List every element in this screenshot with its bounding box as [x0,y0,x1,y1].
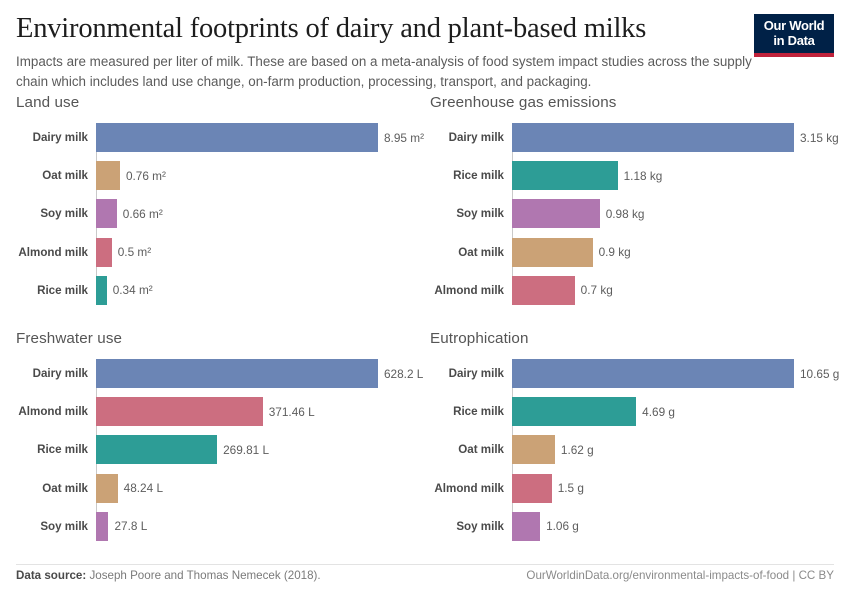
category-label: Oat milk [430,246,512,259]
category-label: Oat milk [430,443,512,456]
bar-container: 10.65 g [512,359,839,388]
bar[interactable] [512,238,593,267]
bar-row: Oat milk48.24 L [16,474,424,503]
plot-area: Dairy milk8.95 m²Oat milk0.76 m²Soy milk… [16,123,424,305]
bar-rows: Dairy milk8.95 m²Oat milk0.76 m²Soy milk… [16,123,424,305]
plot-area: Dairy milk10.65 gRice milk4.69 gOat milk… [430,359,838,541]
value-label: 3.15 kg [794,131,839,145]
value-label: 628.2 L [378,367,423,381]
logo-line-1: Our World [754,18,834,33]
bar-container: 0.76 m² [96,161,424,190]
bar-container: 27.8 L [96,512,424,541]
bar-row: Soy milk27.8 L [16,512,424,541]
page-title: Environmental footprints of dairy and pl… [16,12,834,46]
bar-container: 628.2 L [96,359,424,388]
value-label: 0.66 m² [117,207,163,221]
value-label: 0.98 kg [600,207,645,221]
value-label: 0.7 kg [575,283,613,297]
bar[interactable] [512,123,794,152]
category-label: Soy milk [430,207,512,220]
bar-container: 0.9 kg [512,238,838,267]
bar-row: Dairy milk8.95 m² [16,123,424,152]
category-label: Soy milk [430,520,512,533]
bar[interactable] [96,238,112,267]
category-label: Soy milk [16,520,96,533]
bar-rows: Dairy milk3.15 kgRice milk1.18 kgSoy mil… [430,123,838,305]
bar-container: 1.5 g [512,474,838,503]
value-label: 0.5 m² [112,245,151,259]
bar-row: Almond milk0.5 m² [16,238,424,267]
bar-row: Dairy milk628.2 L [16,359,424,388]
value-label: 1.62 g [555,443,594,457]
value-label: 0.9 kg [593,245,631,259]
bar-container: 1.18 kg [512,161,838,190]
value-label: 48.24 L [118,481,163,495]
bar[interactable] [96,161,120,190]
value-label: 1.5 g [552,481,584,495]
bar-container: 371.46 L [96,397,424,426]
bar-container: 48.24 L [96,474,424,503]
category-label: Dairy milk [430,131,512,144]
bar-row: Oat milk1.62 g [430,435,838,464]
category-label: Oat milk [16,482,96,495]
bar[interactable] [512,199,600,228]
bar-row: Almond milk1.5 g [430,474,838,503]
bar[interactable] [512,474,552,503]
value-label: 4.69 g [636,405,675,419]
bar[interactable] [96,474,118,503]
bar-container: 1.06 g [512,512,838,541]
bar-row: Rice milk1.18 kg [430,161,838,190]
value-label: 27.8 L [108,519,147,533]
panel-title: Freshwater use [16,330,424,347]
attribution-link[interactable]: OurWorldinData.org/environmental-impacts… [526,569,834,582]
category-label: Oat milk [16,169,96,182]
bar-container: 8.95 m² [96,123,424,152]
panel-freshwater-use: Freshwater use Dairy milk628.2 LAlmond m… [16,330,424,541]
data-source-label: Data source: [16,569,86,582]
bar-container: 0.34 m² [96,276,424,305]
category-label: Dairy milk [430,367,512,380]
logo-line-2: in Data [754,33,834,48]
bar[interactable] [96,359,378,388]
bar[interactable] [96,276,107,305]
bar[interactable] [512,276,575,305]
panel-title: Eutrophication [430,330,838,347]
bar-container: 3.15 kg [512,123,839,152]
category-label: Soy milk [16,207,96,220]
category-label: Almond milk [430,284,512,297]
panel-eutrophication: Eutrophication Dairy milk10.65 gRice mil… [430,330,838,541]
value-label: 371.46 L [263,405,315,419]
category-label: Rice milk [16,443,96,456]
bar[interactable] [512,359,794,388]
bar-container: 0.98 kg [512,199,838,228]
bar-row: Rice milk4.69 g [430,397,838,426]
bar-container: 1.62 g [512,435,838,464]
bar[interactable] [96,512,108,541]
category-label: Rice milk [16,284,96,297]
bar-row: Dairy milk10.65 g [430,359,838,388]
bar[interactable] [96,199,117,228]
category-label: Almond milk [16,246,96,259]
category-label: Almond milk [430,482,512,495]
bar[interactable] [96,397,263,426]
bar[interactable] [96,123,378,152]
bar-row: Dairy milk3.15 kg [430,123,838,152]
bar[interactable] [96,435,217,464]
plot-area: Dairy milk628.2 LAlmond milk371.46 LRice… [16,359,424,541]
category-label: Dairy milk [16,367,96,380]
chart-panel-grid: Land use Dairy milk8.95 m²Oat milk0.76 m… [0,94,850,554]
bar[interactable] [512,161,618,190]
category-label: Dairy milk [16,131,96,144]
panel-title: Land use [16,94,424,111]
data-source: Data source: Joseph Poore and Thomas Nem… [16,569,321,582]
bar-row: Almond milk0.7 kg [430,276,838,305]
bar-row: Rice milk0.34 m² [16,276,424,305]
category-label: Rice milk [430,405,512,418]
value-label: 0.76 m² [120,169,166,183]
bar-container: 0.66 m² [96,199,424,228]
panel-greenhouse-gas-emissions: Greenhouse gas emissions Dairy milk3.15 … [430,94,838,305]
bar-row: Oat milk0.9 kg [430,238,838,267]
category-label: Almond milk [16,405,96,418]
bar-container: 4.69 g [512,397,838,426]
value-label: 1.06 g [540,519,579,533]
bar-row: Soy milk1.06 g [430,512,838,541]
value-label: 10.65 g [794,367,839,381]
bar-row: Almond milk371.46 L [16,397,424,426]
owid-chart-page: Environmental footprints of dairy and pl… [0,0,850,600]
data-source-text: Joseph Poore and Thomas Nemecek (2018). [89,569,320,582]
bar-rows: Dairy milk628.2 LAlmond milk371.46 LRice… [16,359,424,541]
bar[interactable] [512,435,555,464]
bar-row: Oat milk0.76 m² [16,161,424,190]
value-label: 0.34 m² [107,283,153,297]
chart-footer: Data source: Joseph Poore and Thomas Nem… [16,564,834,582]
value-label: 8.95 m² [378,131,424,145]
bar-row: Soy milk0.98 kg [430,199,838,228]
bar[interactable] [512,397,636,426]
bar-container: 269.81 L [96,435,424,464]
our-world-in-data-logo[interactable]: Our World in Data [754,14,834,57]
plot-area: Dairy milk3.15 kgRice milk1.18 kgSoy mil… [430,123,838,305]
bar-container: 0.7 kg [512,276,838,305]
bar-row: Soy milk0.66 m² [16,199,424,228]
bar-rows: Dairy milk10.65 gRice milk4.69 gOat milk… [430,359,838,541]
category-label: Rice milk [430,169,512,182]
bar-container: 0.5 m² [96,238,424,267]
value-label: 269.81 L [217,443,269,457]
bar-row: Rice milk269.81 L [16,435,424,464]
bar[interactable] [512,512,540,541]
page-subtitle: Impacts are measured per liter of milk. … [16,52,758,91]
panel-land-use: Land use Dairy milk8.95 m²Oat milk0.76 m… [16,94,424,305]
value-label: 1.18 kg [618,169,663,183]
chart-header: Environmental footprints of dairy and pl… [16,12,834,90]
panel-title: Greenhouse gas emissions [430,94,838,111]
